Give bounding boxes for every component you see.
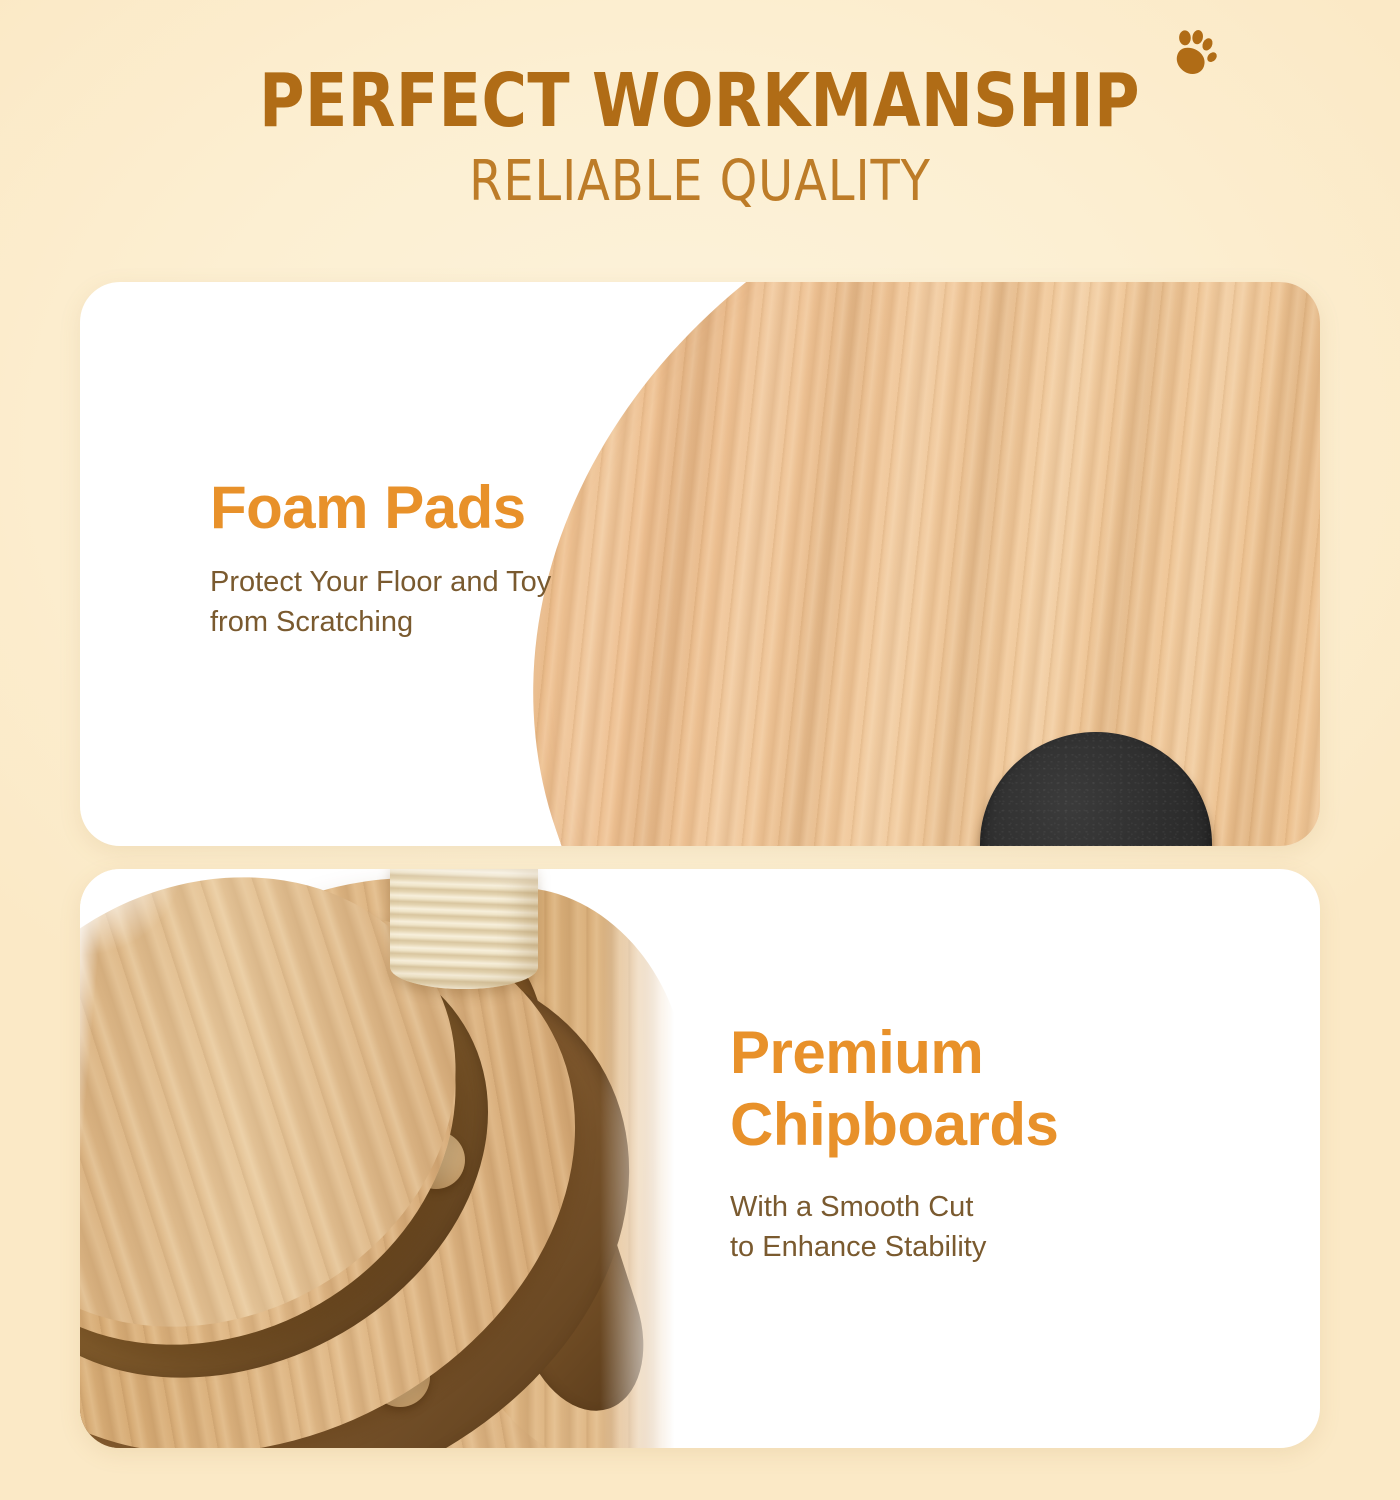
premium-chipboards-body-line-1: With a Smooth Cut: [730, 1187, 1160, 1227]
sisal-rope-post: [390, 869, 538, 989]
product-feature-page: PERFECT WORKMANSHIP RELIABLE QUALITY Foa…: [0, 0, 1400, 1500]
cat-toy-base-photo: [80, 869, 720, 1448]
paw-print-icon: [1155, 20, 1228, 93]
foam-pads-body-line-1: Protect Your Floor and Toy: [210, 562, 630, 602]
foam-pads-body-line-2: from Scratching: [210, 602, 630, 642]
foam-pads-body: Protect Your Floor and Toy from Scratchi…: [210, 562, 630, 642]
premium-chipboards-heading: Premium Chipboards: [730, 1017, 1160, 1161]
title-group: PERFECT WORKMANSHIP: [226, 62, 1173, 140]
page-subtitle: RELIABLE QUALITY: [35, 152, 1365, 212]
foam-pads-heading: Foam Pads: [210, 472, 630, 544]
premium-chipboards-body: With a Smooth Cut to Enhance Stability: [730, 1187, 1160, 1267]
foam-pads-text-block: Foam Pads Protect Your Floor and Toy fro…: [210, 472, 630, 642]
premium-chipboards-heading-line-2: Chipboards: [730, 1089, 1160, 1161]
feature-card-foam-pads: Foam Pads Protect Your Floor and Toy fro…: [80, 282, 1320, 846]
premium-chipboards-heading-line-1: Premium: [730, 1017, 1160, 1089]
feature-card-premium-chipboards: Premium Chipboards With a Smooth Cut to …: [80, 869, 1320, 1448]
premium-chipboards-body-line-2: to Enhance Stability: [730, 1227, 1160, 1267]
premium-chipboards-text-block: Premium Chipboards With a Smooth Cut to …: [730, 1017, 1160, 1267]
page-header: PERFECT WORKMANSHIP RELIABLE QUALITY: [0, 0, 1400, 282]
page-title: PERFECT WORKMANSHIP: [260, 62, 1141, 140]
photo-right-fade: [600, 869, 720, 1448]
